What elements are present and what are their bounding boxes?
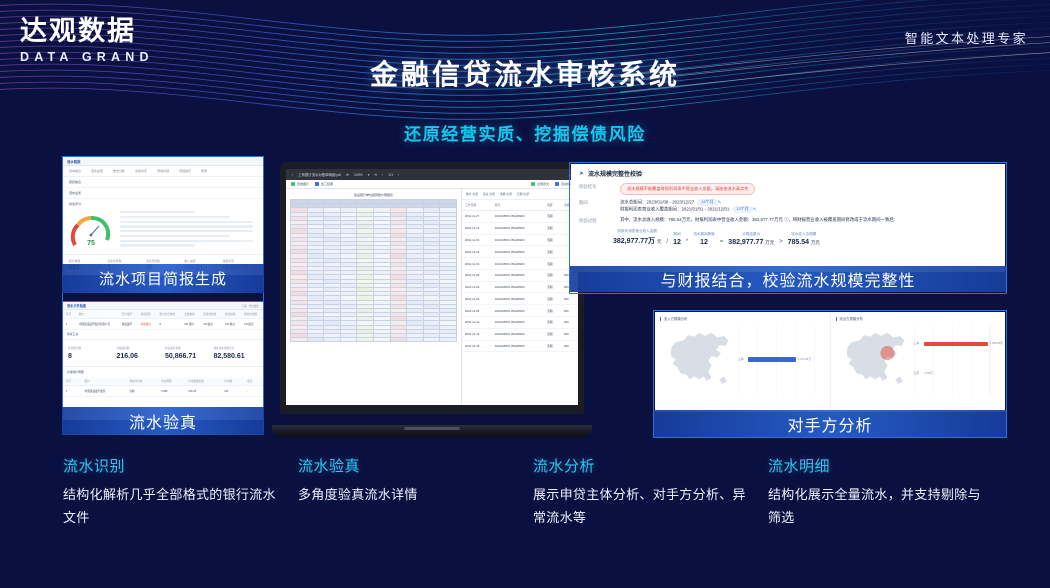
cell-date: 2016-12-10 — [462, 317, 492, 329]
feature-desc: 展示申贷主体分析、对手方分析、异常流水等 — [533, 485, 750, 531]
grid-filter-bar[interactable]: 账户 全部 表头 全部 金额 全部 日期 全部 — [462, 189, 578, 200]
scanned-cell — [390, 338, 407, 342]
table-row[interactable]: 2016-12-031102026501 05A26M00活期 — [462, 258, 578, 270]
cell-summary: 活期 — [544, 222, 561, 234]
col-header: 账号 — [492, 200, 544, 211]
cell-date: 2016-12-12 — [462, 328, 492, 340]
feature-column-4: 流水明细 结构化展示全量流水，并支持剔除与筛选 — [768, 455, 1003, 531]
tab-processed-result[interactable]: 加工结果 — [315, 182, 333, 186]
cell-amount: 000 — [561, 293, 578, 305]
cell-account: 1102026501 05A26M00 — [492, 211, 544, 223]
cell-summary: 活期 — [544, 328, 561, 340]
cell-summary: 活期 — [544, 234, 561, 246]
table-row[interactable]: 2016-12-011102026501 05A26M00活期 — [462, 222, 578, 234]
cell-date: 2016-12-03 — [462, 281, 492, 293]
cell-account: 1102026501 05A26M00 — [492, 317, 544, 329]
brand-tagline: 智能文本处理专家 — [905, 28, 1028, 47]
green-swatch-icon — [291, 182, 295, 186]
green-swatch-icon — [531, 182, 535, 186]
cell-account: 1102026501 05A26M00 — [492, 222, 544, 234]
caption-verify: 流水验真 — [62, 407, 264, 435]
extracted-rows-table: 工作日期 账号 摘要 金额 2016-11-271102026501 05A26… — [462, 200, 578, 352]
cell-account: 1102026501 05A26M00 — [492, 293, 544, 305]
scanned-cell — [357, 338, 374, 342]
filter-amount[interactable]: 金额 全部 — [500, 192, 512, 196]
viewer-file-title: 工商银行流水对账单明细.pdf — [298, 172, 341, 177]
caption-report: 流水项目简报生成 — [62, 264, 264, 293]
cell-account: 1102026501 05A26M00 — [492, 340, 544, 352]
cell-account: 1102026501 05A26M00 — [492, 234, 544, 246]
cell-account: 1102026501 05A26M00 — [492, 269, 544, 281]
document-preview-pane[interactable]: 建设银行单位结算账户明细表 — [286, 189, 462, 405]
cell-date: 2016-12-03 — [462, 269, 492, 281]
cell-summary: 活期 — [544, 305, 561, 317]
feature-columns: 流水识别 结构化解析几乎全部格式的银行流水文件 流水验真 多角度验真流水详情 流… — [63, 455, 1003, 531]
scanned-cell — [291, 338, 308, 342]
toggle-label: 全部原文 — [537, 182, 549, 186]
scanned-cell — [423, 338, 440, 342]
cell-date: 2016-11-27 — [462, 211, 492, 223]
zoom-out-icon[interactable]: ⊖ — [374, 173, 377, 177]
cell-summary: 活期 — [544, 293, 561, 305]
cell-summary: 活期 — [544, 269, 561, 281]
col-header: 工作日期 — [462, 200, 492, 211]
cell-date: 2016-12-01 — [462, 234, 492, 246]
col-header: 摘要 — [544, 200, 561, 211]
table-row[interactable]: 2016-12-041102026501 05A26M00活期000 — [462, 293, 578, 305]
viewer-page-indicator: 1/1 — [388, 173, 393, 177]
next-page-icon[interactable]: › — [398, 173, 399, 177]
scanned-cell — [324, 338, 341, 342]
laptop-mockup: ‹ 工商银行流水对账单明细.pdf ⊕ 100% ▾ ⊖ ‹ 1/1 › ⤢ 原… — [272, 162, 592, 437]
cell-date: 2016-12-03 — [462, 258, 492, 270]
feature-column-1: 流水识别 结构化解析几乎全部格式的银行流水文件 — [63, 455, 298, 531]
scanned-row — [291, 338, 457, 342]
cell-date: 2016-12-05 — [462, 305, 492, 317]
cell-date: 2016-12-01 — [462, 222, 492, 234]
cell-amount: 000 — [561, 305, 578, 317]
cell-account: 1102026501 05A26M00 — [492, 258, 544, 270]
feature-column-2: 流水验真 多角度验真流水详情 — [298, 455, 533, 531]
filter-account[interactable]: 账户 全部 — [466, 192, 478, 196]
viewer-body: 建设银行单位结算账户明细表 账户 全部 表头 全部 金额 全部 日期 全部 — [286, 189, 578, 405]
brand-name-cn: 达观数据 — [20, 18, 154, 46]
tab-original-image[interactable]: 原始图片 — [291, 182, 309, 186]
table-row[interactable]: 2016-12-021102026501 05A26M00活期 — [462, 246, 578, 258]
caption-maps: 对手方分析 — [654, 410, 1006, 437]
table-row[interactable]: 2016-11-271102026501 05A26M00活期 — [462, 211, 578, 223]
table-row[interactable]: 2016-12-101102026501 05A26M00活期000 — [462, 317, 578, 329]
table-row[interactable]: 2016-12-011102026501 05A26M00活期 — [462, 234, 578, 246]
feature-title: 流水验真 — [298, 455, 515, 476]
scanned-cell — [340, 338, 357, 342]
feature-desc: 结构化解析几乎全部格式的银行流水文件 — [63, 485, 280, 531]
page-subtitle: 还原经营实质、挖掘偿债风险 — [0, 120, 1050, 145]
cell-account: 1102026501 05A26M00 — [492, 281, 544, 293]
filter-date[interactable]: 日期 全部 — [517, 192, 529, 196]
feature-title: 流水识别 — [63, 455, 280, 476]
viewer-zoom-level[interactable]: 100% — [354, 173, 363, 177]
table-row[interactable]: 2016-12-031102026501 05A26M00活期000 — [462, 269, 578, 281]
back-icon[interactable]: ‹ — [292, 173, 293, 177]
laptop-screen[interactable]: ‹ 工商银行流水对账单明细.pdf ⊕ 100% ▾ ⊖ ‹ 1/1 › ⤢ 原… — [286, 169, 578, 405]
cell-summary: 活期 — [544, 246, 561, 258]
feature-column-3: 流水分析 展示申贷主体分析、对手方分析、异常流水等 — [533, 455, 768, 531]
table-row[interactable]: 2016-12-151102026501 05A26M00活期000 — [462, 340, 578, 352]
blue-swatch-icon — [555, 182, 559, 186]
cell-account: 1102026501 05A26M00 — [492, 328, 544, 340]
laptop-lid: ‹ 工商银行流水对账单明细.pdf ⊕ 100% ▾ ⊖ ‹ 1/1 › ⤢ 原… — [280, 162, 584, 414]
structured-data-pane[interactable]: 账户 全部 表头 全部 金额 全部 日期 全部 工作日期 账号 摘要 — [462, 189, 578, 405]
filter-header[interactable]: 表头 全部 — [483, 192, 495, 196]
table-row[interactable]: 2016-12-121102026501 05A26M00活期000 — [462, 328, 578, 340]
scanned-cell — [440, 338, 457, 342]
toggle-all-text[interactable]: 全部原文 — [531, 182, 549, 186]
cell-amount: 000 — [561, 328, 578, 340]
cell-summary: 活期 — [544, 258, 561, 270]
cell-amount: 000 — [561, 340, 578, 352]
blue-swatch-icon — [315, 182, 319, 186]
slide-root: 达观数据 DATA GRAND 智能文本处理专家 金融信贷流水审核系统 还原经营… — [0, 0, 1050, 588]
prev-page-icon[interactable]: ‹ — [382, 173, 383, 177]
cell-date: 2016-12-02 — [462, 246, 492, 258]
cell-summary: 活期 — [544, 340, 561, 352]
cell-summary: 活期 — [544, 211, 561, 223]
scanned-cell — [407, 338, 424, 342]
feature-desc: 结构化展示全量流水，并支持剔除与筛选 — [768, 485, 985, 531]
cell-summary: 活期 — [544, 317, 561, 329]
cell-account: 1102026501 05A26M00 — [492, 305, 544, 317]
cell-date: 2016-12-04 — [462, 293, 492, 305]
cell-summary: 活期 — [544, 281, 561, 293]
feature-desc: 多角度验真流水详情 — [298, 485, 515, 508]
cell-amount: 000 — [561, 317, 578, 329]
cell-date: 2016-12-15 — [462, 340, 492, 352]
document-title: 建设银行单位结算账户明细表 — [290, 193, 457, 197]
viewer-toolbar[interactable]: ‹ 工商银行流水对账单明细.pdf ⊕ 100% ▾ ⊖ ‹ 1/1 › ⤢ — [286, 169, 578, 180]
caption-validation: 与财报结合，校验流水规模完整性 — [570, 266, 1006, 292]
table-header-row: 工作日期 账号 摘要 金额 — [462, 200, 578, 211]
page-title: 金融信贷流水审核系统 — [0, 53, 1050, 93]
laptop-base — [272, 425, 592, 437]
scanned-cell — [373, 338, 390, 342]
table-row[interactable]: 2016-12-031102026501 05A26M00活期000 — [462, 281, 578, 293]
tab-label: 原始图片 — [297, 182, 309, 186]
feature-title: 流水明细 — [768, 455, 985, 476]
cell-account: 1102026501 05A26M00 — [492, 246, 544, 258]
chevron-down-icon[interactable]: ▾ — [368, 173, 370, 177]
viewer-tabs[interactable]: 原始图片 加工结果 全部原文 自动校对 — [286, 180, 578, 189]
feature-title: 流水分析 — [533, 455, 750, 476]
scanned-statement-table — [290, 199, 457, 342]
tab-label: 加工结果 — [321, 182, 333, 186]
table-row[interactable]: 2016-12-051102026501 05A26M00活期000 — [462, 305, 578, 317]
search-icon[interactable]: ⊕ — [346, 173, 349, 177]
scanned-cell — [307, 338, 324, 342]
